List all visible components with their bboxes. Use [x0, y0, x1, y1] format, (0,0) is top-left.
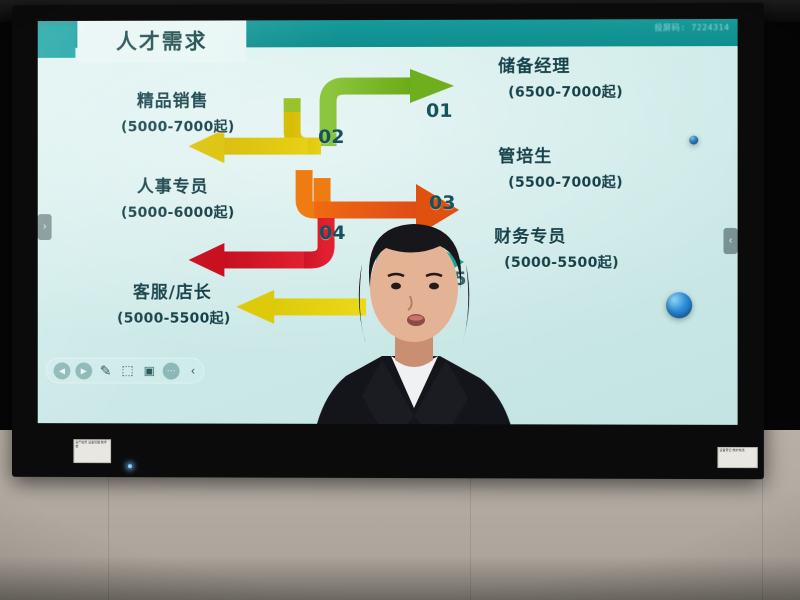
floating-assistant-ball[interactable] [666, 292, 692, 318]
job-pay: (5000-5500起) [504, 252, 619, 272]
job-right-3: 财务专员 (5000-5500起) [494, 222, 619, 272]
job-role: 管培生 [498, 142, 623, 167]
display-screen[interactable]: 人才需求 投屏码: 7224314 [38, 19, 738, 425]
collapse-toolbar-icon[interactable]: ‹ [185, 362, 202, 379]
previous-slide-icon[interactable]: ◀ [54, 362, 71, 379]
play-slide-icon[interactable]: ▶ [75, 362, 92, 379]
job-right-2: 管培生 (5500-7000起) [498, 142, 623, 192]
device-sticker-right: 设备登记 维护热线 [717, 447, 757, 468]
step-number-05: 05 [440, 268, 466, 290]
screenshot-capture-icon[interactable]: ⬚ [119, 362, 136, 379]
job-pay: (5000-5500起) [117, 308, 230, 328]
floor-shadow [0, 556, 800, 600]
job-pay: (5500-7000起) [508, 172, 623, 192]
job-pay: (5000-6000起) [121, 202, 234, 222]
job-left-3: 客服/店长 (5000-5500起) [133, 278, 231, 328]
presentation-slide[interactable]: 人才需求 投屏码: 7224314 [38, 19, 738, 425]
slide-toolbar[interactable]: ◀ ▶ ✎ ⬚ ▣ ⋯ ‹ [46, 357, 205, 383]
floating-ball-small[interactable] [689, 136, 698, 145]
job-role: 人事专员 [137, 172, 235, 197]
step-number-03: 03 [429, 192, 455, 214]
job-right-1: 储备经理 (6500-7000起) [498, 51, 623, 101]
job-left-1: 精品销售 (5000-7000起) [137, 86, 235, 136]
more-options-icon[interactable]: ⋯ [163, 362, 180, 379]
job-role: 精品销售 [137, 86, 235, 111]
record-video-icon[interactable]: ▣ [141, 362, 158, 379]
power-led [128, 464, 132, 468]
job-role: 财务专员 [494, 222, 619, 247]
step-number-04: 04 [319, 222, 345, 244]
classroom-scene: 人才需求 投屏码: 7224314 [0, 0, 800, 600]
pen-annotate-icon[interactable]: ✎ [97, 362, 114, 379]
step-number-01: 01 [426, 100, 452, 122]
job-pay: (6500-7000起) [508, 81, 623, 101]
job-role: 储备经理 [498, 51, 623, 76]
right-panel-collapse-tab[interactable]: ‹ [723, 228, 737, 254]
device-sticker-left: 资产编号 设备管理 教学楼 [73, 439, 111, 463]
step-number-02: 02 [318, 126, 344, 148]
job-role: 客服/店长 [133, 278, 231, 303]
job-pay: (5000-7000起) [121, 116, 234, 136]
left-panel-expand-tab[interactable]: › [38, 214, 52, 240]
interactive-whiteboard[interactable]: 人才需求 投屏码: 7224314 [12, 3, 764, 479]
job-left-2: 人事专员 (5000-6000起) [137, 172, 235, 222]
